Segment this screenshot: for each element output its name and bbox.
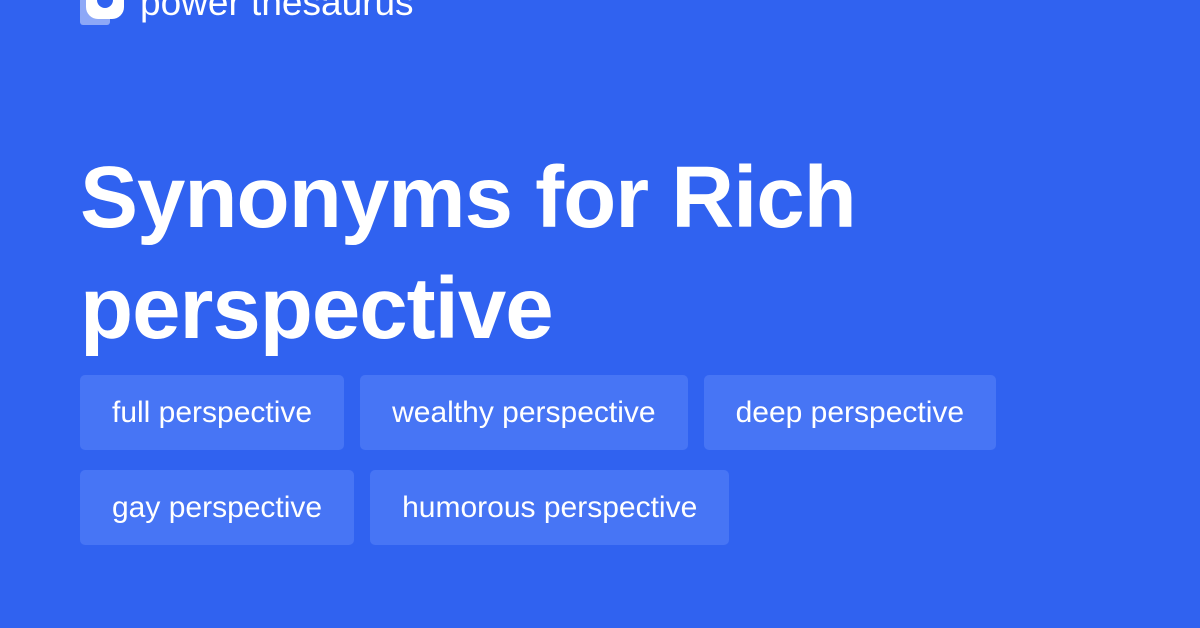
synonym-chip[interactable]: wealthy perspective <box>360 375 687 450</box>
social-share-card: power thesaurus Synonyms for Rich perspe… <box>0 0 1200 628</box>
power-thesaurus-p-logo-icon <box>80 0 124 25</box>
brand-lockup[interactable]: power thesaurus <box>80 0 414 26</box>
synonym-chip-list: full perspective wealthy perspective dee… <box>80 375 1140 545</box>
page-title-line-2: perspective <box>80 260 553 357</box>
synonym-chip[interactable]: humorous perspective <box>370 470 729 545</box>
logo-disc-shape <box>86 0 124 19</box>
synonym-chip[interactable]: gay perspective <box>80 470 354 545</box>
page-title: Synonyms for Rich perspective <box>80 142 1120 364</box>
synonym-chip[interactable]: deep perspective <box>704 375 997 450</box>
synonym-chip[interactable]: full perspective <box>80 375 344 450</box>
brand-name: power thesaurus <box>140 0 414 25</box>
page-title-line-1: Synonyms for Rich <box>80 149 856 246</box>
